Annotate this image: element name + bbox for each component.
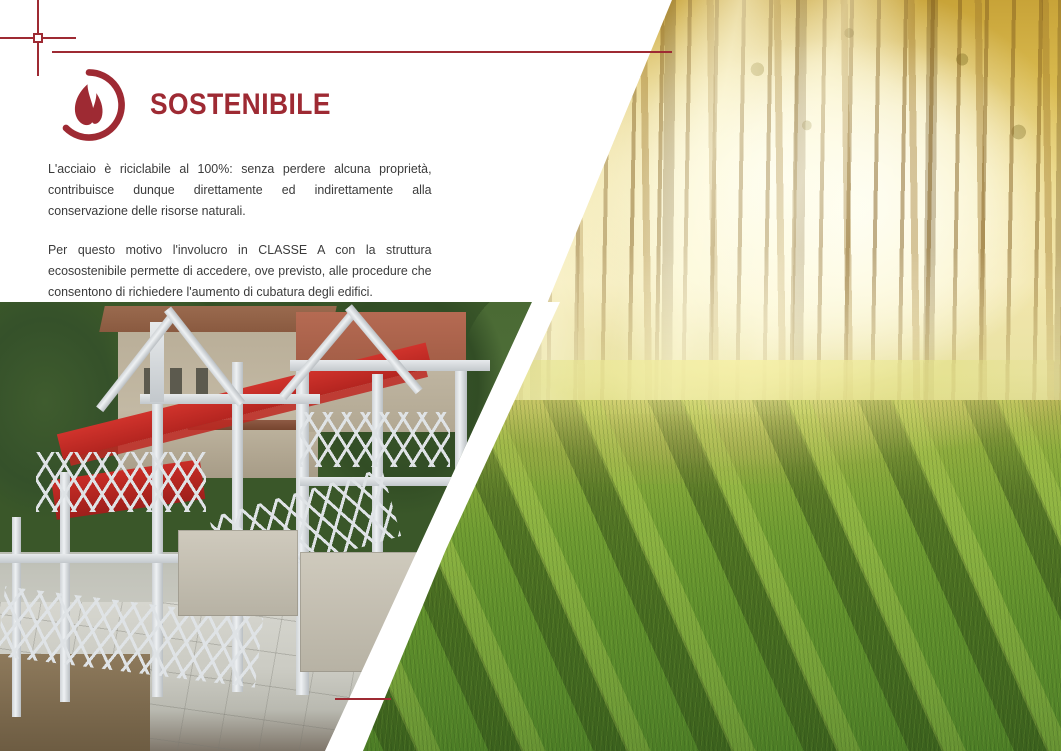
page-root: SOSTENIBILE L'acciaio è riciclabile al 1… bbox=[0, 0, 1061, 751]
red-rule-mark-icon bbox=[335, 698, 391, 700]
steel-truss bbox=[300, 412, 450, 467]
precast-concrete-wall bbox=[178, 530, 298, 616]
paragraph-1: L'acciaio è riciclabile al 100%: senza p… bbox=[48, 158, 432, 221]
leaf-in-circle-icon bbox=[52, 68, 126, 142]
paragraph-2: Per questo motivo l'involucro in CLASSE … bbox=[48, 239, 432, 302]
body-copy: L'acciaio è riciclabile al 100%: senza p… bbox=[48, 158, 456, 302]
crosshair-center-square bbox=[33, 33, 43, 43]
header-rule bbox=[52, 51, 672, 53]
brand-header: SOSTENIBILE bbox=[52, 68, 356, 142]
page-title: SOSTENIBILE bbox=[150, 88, 331, 122]
steel-truss bbox=[36, 452, 206, 512]
